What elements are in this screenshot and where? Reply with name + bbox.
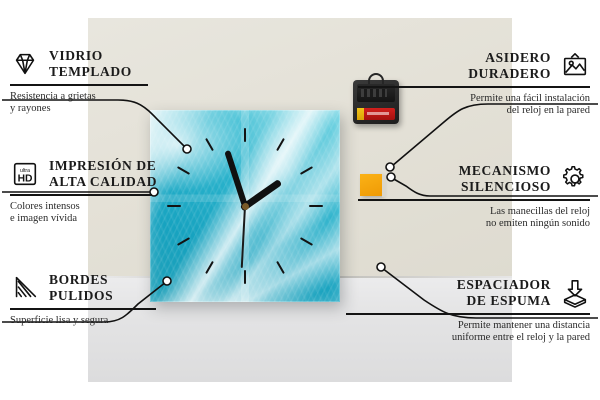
- callout-title: BORDES PULIDOS: [49, 272, 113, 303]
- callout-asidero-duradero: ASIDERO DURADERO Permite una fácil insta…: [358, 50, 590, 118]
- callout-header: MECANISMO SILENCIOSO: [358, 163, 590, 194]
- clock-tick: [244, 270, 246, 284]
- callout-description: Permite mantener una distancia uniforme …: [346, 320, 590, 345]
- callout-title: IMPRESIÓN DE ALTA CALIDAD: [49, 158, 157, 189]
- callout-header: BORDES PULIDOS: [10, 272, 242, 303]
- callout-description: Superficie lisa y segura: [10, 315, 242, 328]
- callout-divider: [358, 86, 590, 88]
- callout-header: ultra HD IMPRESIÓN DE ALTA CALIDAD: [10, 158, 242, 189]
- callout-header: ESPACIADOR DE ESPUMA: [346, 277, 590, 308]
- callout-description: Permite una fácil instalación del reloj …: [358, 93, 590, 118]
- callout-description: Las manecillas del reloj no emiten ningú…: [358, 206, 590, 231]
- gear-icon: [560, 164, 590, 194]
- callout-title: ASIDERO DURADERO: [468, 50, 551, 81]
- wall-hanger-frame-icon: [560, 51, 590, 81]
- callout-header: ASIDERO DURADERO: [358, 50, 590, 81]
- callout-description: Colores intensos e imagen vívida: [10, 201, 242, 226]
- svg-text:HD: HD: [18, 173, 33, 184]
- clock-tick: [309, 205, 323, 207]
- callout-header: VIDRIO TEMPLADO: [10, 48, 242, 79]
- callout-title: MECANISMO SILENCIOSO: [459, 163, 551, 194]
- callout-divider: [10, 194, 152, 196]
- polished-edges-icon: [10, 273, 40, 303]
- ultra-hd-icon: ultra HD: [10, 159, 40, 189]
- callout-impresion-alta-calidad: ultra HD IMPRESIÓN DE ALTA CALIDAD Color…: [10, 158, 242, 226]
- callout-mecanismo-silencioso: MECANISMO SILENCIOSO Las manecillas del …: [358, 163, 590, 231]
- callout-title: VIDRIO TEMPLADO: [49, 48, 132, 79]
- clock-tick: [244, 128, 246, 142]
- callout-bordes-pulidos: BORDES PULIDOS Superficie lisa y segura: [10, 272, 242, 327]
- callout-title: ESPACIADOR DE ESPUMA: [457, 277, 551, 308]
- callout-divider: [10, 84, 148, 86]
- callout-divider: [10, 308, 156, 310]
- callout-vidrio-templado: VIDRIO TEMPLADO Resistencia a grietas y …: [10, 48, 242, 116]
- callout-divider: [358, 199, 590, 201]
- callout-divider: [346, 313, 590, 315]
- foam-spacer-arrow-icon: [560, 278, 590, 308]
- callout-description: Resistencia a grietas y rayones: [10, 91, 242, 116]
- callout-espaciador-espuma: ESPACIADOR DE ESPUMA Permite mantener un…: [346, 277, 590, 345]
- diamond-icon: [10, 49, 40, 79]
- clock-center-cap: [242, 203, 249, 210]
